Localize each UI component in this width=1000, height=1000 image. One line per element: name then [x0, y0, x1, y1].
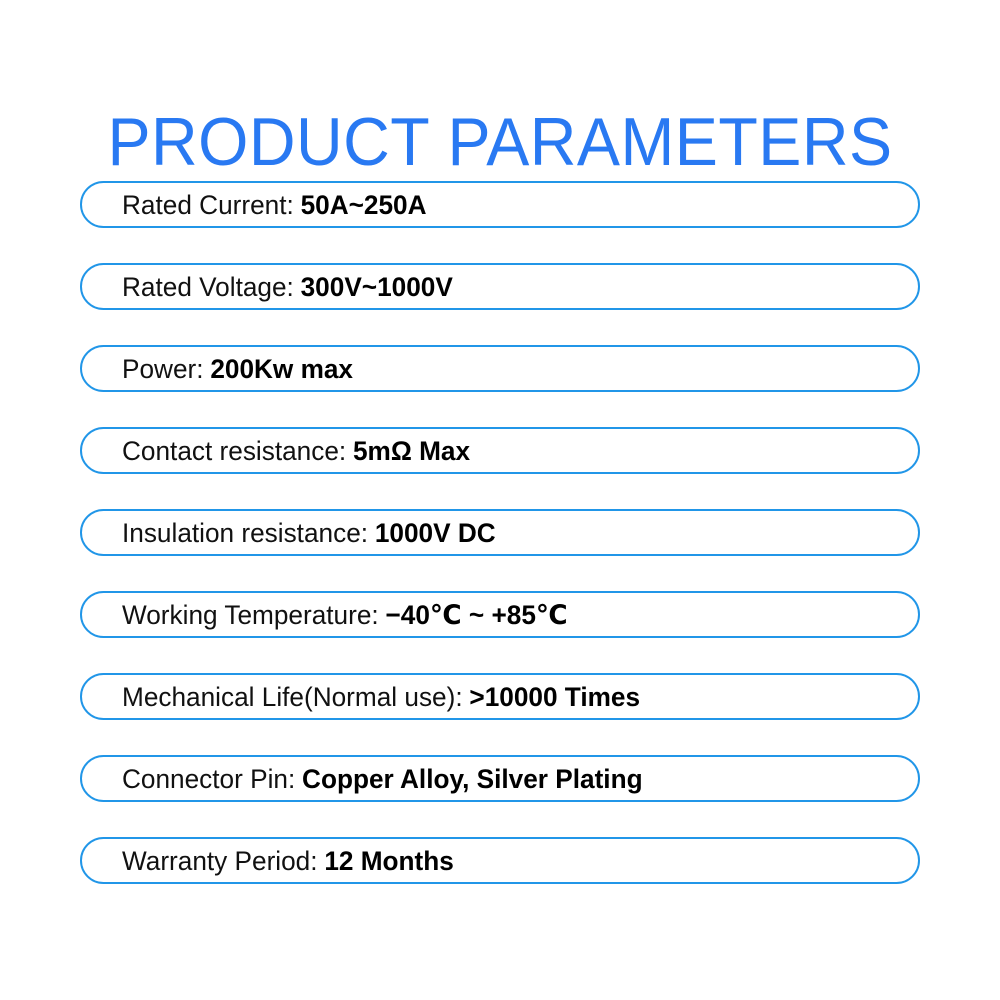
- parameter-row-connector-pin: Connector Pin:Copper Alloy, Silver Plati…: [80, 755, 920, 802]
- parameter-text: Working Temperature:−40℃ ~ +85℃: [122, 600, 568, 630]
- parameter-row-insulation-resistance: Insulation resistance:1000V DC: [80, 509, 920, 556]
- parameter-text: Rated Current:50A~250A: [122, 190, 427, 220]
- parameter-value: 12 Months: [324, 846, 454, 876]
- parameter-row-power: Power:200Kw max: [80, 345, 920, 392]
- parameter-label: Connector Pin:: [122, 764, 295, 794]
- parameter-row-rated-voltage: Rated Voltage:300V~1000V: [80, 263, 920, 310]
- parameter-text: Power:200Kw max: [122, 354, 353, 384]
- parameter-row-contact-resistance: Contact resistance:5mΩ Max: [80, 427, 920, 474]
- parameter-text: Warranty Period:12 Months: [122, 846, 454, 876]
- parameter-value: −40℃ ~ +85℃: [385, 600, 567, 630]
- product-parameters-page: PRODUCT PARAMETERS Rated Current:50A~250…: [0, 0, 1000, 1000]
- parameter-label: Warranty Period:: [122, 846, 318, 876]
- parameter-value: Copper Alloy, Silver Plating: [302, 764, 643, 794]
- parameter-label: Working Temperature:: [122, 600, 379, 630]
- parameter-value: 200Kw max: [210, 354, 353, 384]
- parameter-value: 1000V DC: [375, 518, 496, 548]
- parameter-row-mechanical-life: Mechanical Life(Normal use):>10000 Times: [80, 673, 920, 720]
- parameter-text: Rated Voltage:300V~1000V: [122, 272, 453, 302]
- parameter-row-warranty-period: Warranty Period:12 Months: [80, 837, 920, 884]
- page-title: PRODUCT PARAMETERS: [25, 103, 975, 181]
- parameter-text: Connector Pin:Copper Alloy, Silver Plati…: [122, 764, 643, 794]
- parameter-row-working-temperature: Working Temperature:−40℃ ~ +85℃: [80, 591, 920, 638]
- parameter-label: Insulation resistance:: [122, 518, 368, 548]
- parameter-value: >10000 Times: [469, 682, 640, 712]
- parameter-label: Rated Current:: [122, 190, 294, 220]
- parameter-label: Rated Voltage:: [122, 272, 294, 302]
- parameter-value: 300V~1000V: [301, 272, 453, 302]
- parameter-text: Mechanical Life(Normal use):>10000 Times: [122, 682, 640, 712]
- parameter-label: Power:: [122, 354, 204, 384]
- parameter-text: Contact resistance:5mΩ Max: [122, 436, 470, 466]
- parameter-row-rated-current: Rated Current:50A~250A: [80, 181, 920, 228]
- parameter-label: Mechanical Life(Normal use):: [122, 682, 463, 712]
- parameter-list: Rated Current:50A~250A Rated Voltage:300…: [80, 181, 920, 884]
- parameter-value: 5mΩ Max: [353, 436, 470, 466]
- parameter-value: 50A~250A: [301, 190, 427, 220]
- parameter-text: Insulation resistance:1000V DC: [122, 518, 496, 548]
- parameter-label: Contact resistance:: [122, 436, 346, 466]
